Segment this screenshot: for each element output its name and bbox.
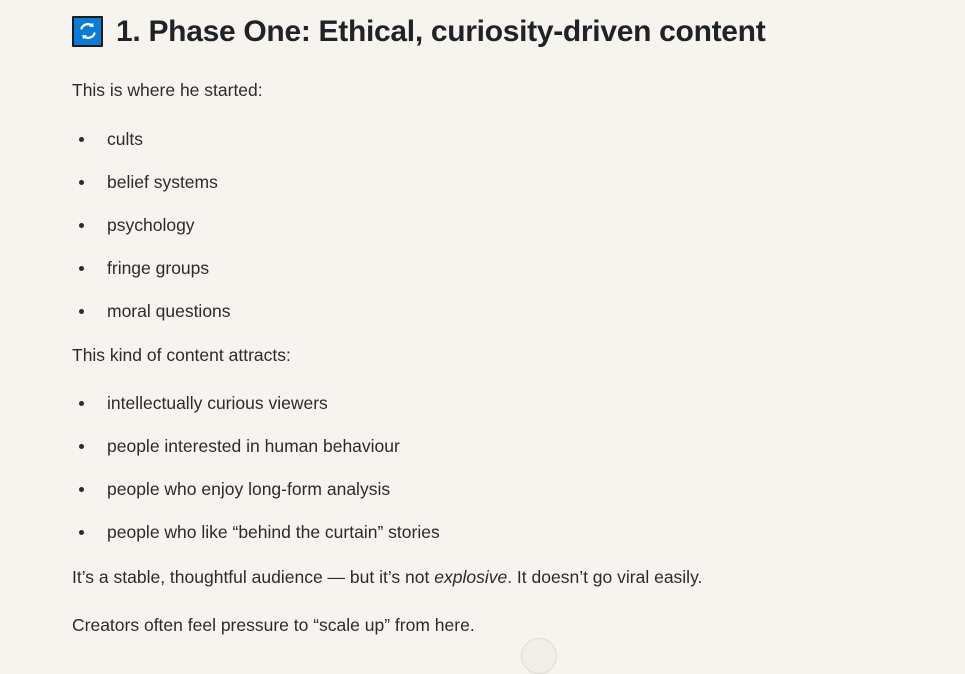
attracts-paragraph-block: This kind of content attracts: xyxy=(72,343,932,368)
intro-paragraph: This is where he started: xyxy=(72,78,932,103)
list-item-label: people interested in human behaviour xyxy=(107,434,400,459)
document-page: 1. Phase One: Ethical, curiosity-driven … xyxy=(0,0,965,648)
bullet-icon xyxy=(79,444,84,449)
list-item: people who enjoy long-form analysis xyxy=(72,468,932,511)
list-item: intellectually curious viewers xyxy=(72,382,932,425)
bullet-icon xyxy=(79,223,84,228)
bullet-icon xyxy=(79,180,84,185)
list-item: people who like “behind the curtain” sto… xyxy=(72,511,932,554)
scale-paragraph: Creators often feel pressure to “scale u… xyxy=(72,613,932,638)
scale-paragraph-block: Creators often feel pressure to “scale u… xyxy=(72,613,932,638)
bullet-icon xyxy=(79,487,84,492)
list-item-label: belief systems xyxy=(107,170,218,195)
bullet-icon xyxy=(79,309,84,314)
stable-paragraph-part2: . It doesn’t go viral easily. xyxy=(507,567,702,587)
list-item: fringe groups xyxy=(72,247,932,290)
counterclockwise-arrows-icon xyxy=(72,16,103,47)
attracts-list: intellectually curious viewers people in… xyxy=(72,382,932,554)
stable-paragraph: It’s a stable, thoughtful audience — but… xyxy=(72,565,932,590)
stable-paragraph-emphasis: explosive xyxy=(434,567,507,587)
section-heading-text: 1. Phase One: Ethical, curiosity-driven … xyxy=(116,15,765,48)
section-heading: 1. Phase One: Ethical, curiosity-driven … xyxy=(72,0,932,62)
list-item-label: cults xyxy=(107,127,143,152)
list-item-label: fringe groups xyxy=(107,256,209,281)
started-list: cults belief systems psychology fringe g… xyxy=(72,118,932,333)
list-item: cults xyxy=(72,118,932,161)
list-item-label: psychology xyxy=(107,213,195,238)
list-item-label: moral questions xyxy=(107,299,231,324)
clipped-bottom-element xyxy=(521,638,557,674)
list-item-label: people who like “behind the curtain” sto… xyxy=(107,520,440,545)
list-item: belief systems xyxy=(72,161,932,204)
intro-paragraph-block: This is where he started: xyxy=(72,78,932,103)
list-item-label: people who enjoy long-form analysis xyxy=(107,477,390,502)
stable-paragraph-part1: It’s a stable, thoughtful audience — but… xyxy=(72,567,434,587)
started-list-block: cults belief systems psychology fringe g… xyxy=(72,118,932,333)
list-item: moral questions xyxy=(72,290,932,333)
stable-paragraph-block: It’s a stable, thoughtful audience — but… xyxy=(72,565,932,590)
bullet-icon xyxy=(79,401,84,406)
document-content: 1. Phase One: Ethical, curiosity-driven … xyxy=(72,0,932,62)
list-item: people interested in human behaviour xyxy=(72,425,932,468)
list-item-label: intellectually curious viewers xyxy=(107,391,328,416)
bullet-icon xyxy=(79,530,84,535)
bullet-icon xyxy=(79,266,84,271)
bullet-icon xyxy=(79,137,84,142)
list-item: psychology xyxy=(72,204,932,247)
attracts-paragraph: This kind of content attracts: xyxy=(72,343,932,368)
attracts-list-block: intellectually curious viewers people in… xyxy=(72,382,932,554)
